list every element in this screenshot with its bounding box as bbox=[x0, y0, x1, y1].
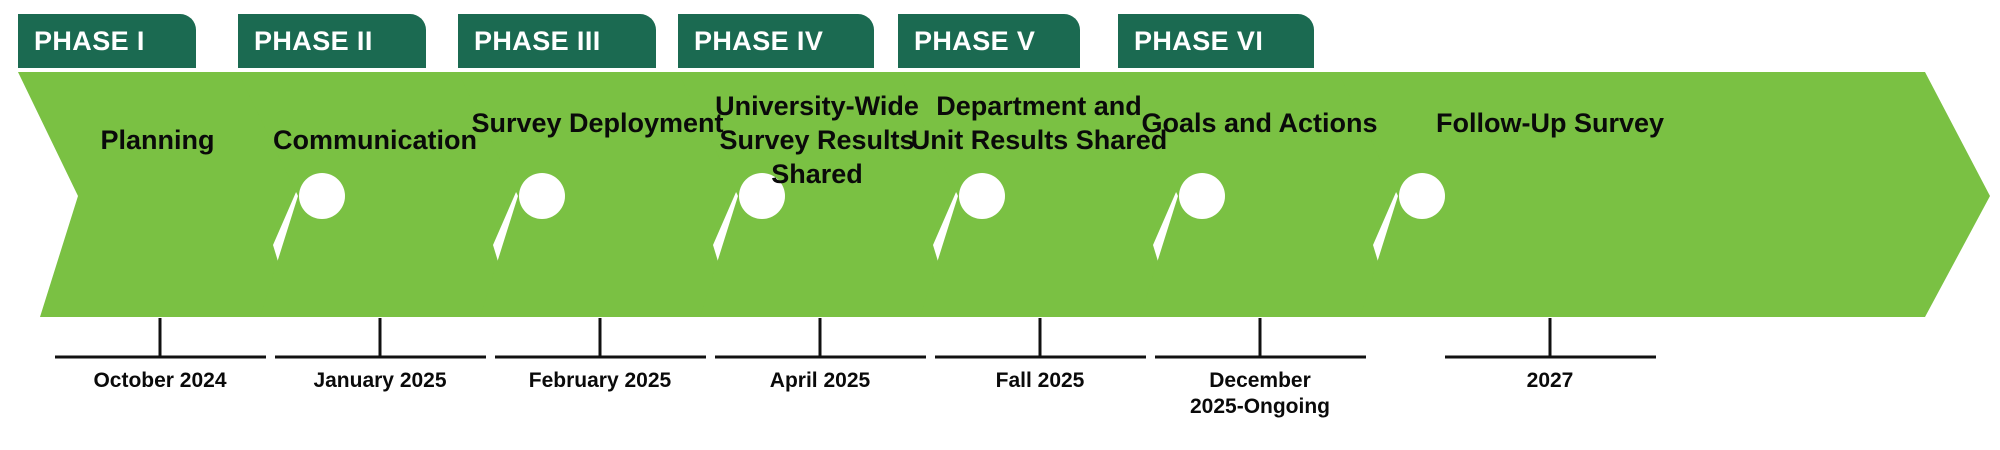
phase-tab-label-1: PHASE I bbox=[34, 28, 145, 55]
connector-circle-4 bbox=[959, 173, 1005, 219]
phase-tab-label-5: PHASE V bbox=[914, 28, 1035, 55]
phase-tab-4[interactable]: PHASE IV bbox=[678, 14, 874, 68]
connector-circle-6 bbox=[1399, 173, 1445, 219]
date-label-4: April 2025 bbox=[700, 368, 940, 394]
phase-tab-label-3: PHASE III bbox=[474, 28, 601, 55]
date-label-5: Fall 2025 bbox=[920, 368, 1160, 394]
connector-circle-1 bbox=[299, 173, 345, 219]
date-label-7: 2027 bbox=[1430, 368, 1670, 394]
phase-tab-label-4: PHASE IV bbox=[694, 28, 823, 55]
connector-circle-3 bbox=[739, 173, 785, 219]
phase-tab-1[interactable]: PHASE I bbox=[18, 14, 196, 68]
phase-tab-label-6: PHASE VI bbox=[1134, 28, 1263, 55]
phase-tab-5[interactable]: PHASE V bbox=[898, 14, 1080, 68]
phase-timeline-diagram: PHASE I PHASE II PHASE III PHASE IV PHAS… bbox=[0, 0, 2000, 450]
date-label-6: December 2025-Ongoing bbox=[1140, 368, 1380, 419]
connector-circle-5 bbox=[1179, 173, 1225, 219]
date-label-1: October 2024 bbox=[40, 368, 280, 394]
phase-tab-3[interactable]: PHASE III bbox=[458, 14, 656, 68]
connector-circle-2 bbox=[519, 173, 565, 219]
phase-tab-6[interactable]: PHASE VI bbox=[1118, 14, 1314, 68]
date-label-2: January 2025 bbox=[260, 368, 500, 394]
phase-tab-2[interactable]: PHASE II bbox=[238, 14, 426, 68]
phase-tab-label-2: PHASE II bbox=[254, 28, 373, 55]
date-label-3: February 2025 bbox=[480, 368, 720, 394]
date-tick-marks bbox=[55, 318, 1656, 357]
